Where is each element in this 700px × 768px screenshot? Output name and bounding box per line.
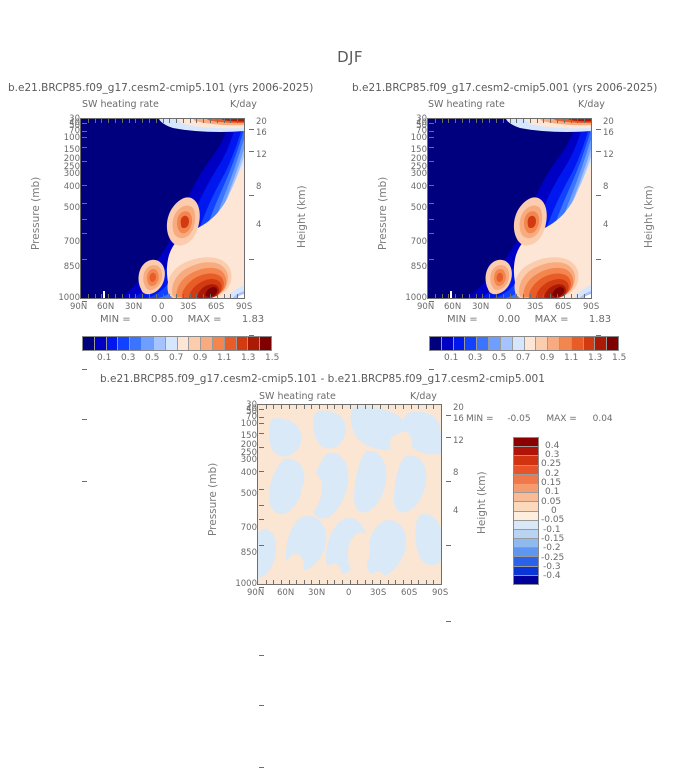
axis-tick-mark — [259, 519, 264, 520]
axis-tick — [482, 119, 483, 123]
panel-title-right: b.e21.BRCP85.f09_g17.cesm2-cmip5.001 (yr… — [352, 82, 657, 94]
axis-tick — [584, 294, 585, 298]
colorbar-swatch — [560, 337, 572, 350]
axis-tick — [273, 405, 274, 409]
axis-tick — [442, 294, 443, 298]
axis-tick — [537, 294, 538, 298]
axis-tick — [169, 294, 170, 298]
axis-tick — [550, 119, 551, 123]
axis-tick — [135, 119, 136, 123]
cbd-tick-0.1: 0.1 — [545, 487, 559, 497]
colorbar-swatch — [489, 337, 501, 350]
pressure-tick-850: 850 — [64, 262, 80, 272]
height-tick-4: 4 — [453, 506, 458, 516]
axis-tick-mark — [82, 233, 87, 234]
axis-tick — [176, 294, 177, 298]
axis-tick — [503, 119, 504, 123]
colorbar-swatch — [225, 337, 237, 350]
colorbar-swatch — [514, 539, 538, 548]
axis-tick — [101, 294, 102, 298]
axis-tick — [411, 580, 412, 584]
pressure-tick-100: 100 — [411, 133, 427, 143]
panel-units-label-left: K/day — [230, 99, 257, 110]
colorbar-swatch — [442, 337, 454, 350]
max-label-right: MAX = — [535, 314, 569, 325]
lat-tick-0: 0 — [159, 302, 164, 312]
cb-tick-1.5: 1.5 — [612, 353, 626, 363]
cb-tick-0.7: 0.7 — [516, 353, 530, 363]
pressure-axis-diff: 30 40 50 70 100 150 200 250 300 400 500 … — [217, 396, 259, 596]
axis-tick — [426, 405, 427, 409]
cb-tick-1.3: 1.3 — [588, 353, 602, 363]
axis-tick-mark — [82, 419, 87, 420]
axis-tick — [584, 119, 585, 123]
height-tick-8: 8 — [256, 182, 261, 192]
axis-tick-mark — [596, 151, 601, 152]
panel-var-label-left: SW heating rate — [82, 99, 159, 110]
lat-tick-30S: 30S — [370, 588, 386, 598]
axis-tick — [319, 580, 320, 584]
axis-tick — [190, 294, 191, 298]
axis-tick — [196, 294, 197, 298]
minmax-right: MIN = 0.00 MAX = 1.83 — [447, 314, 611, 325]
axis-tick — [169, 119, 170, 123]
axis-tick — [496, 294, 497, 298]
axis-tick — [388, 405, 389, 409]
lat-tick-60N: 60N — [277, 588, 294, 598]
axis-tick — [311, 405, 312, 409]
colorbar-swatch — [454, 337, 466, 350]
axis-tick — [350, 580, 351, 584]
axis-tick-mark — [82, 161, 87, 162]
max-label-left: MAX = — [188, 314, 222, 325]
axis-tick — [543, 294, 544, 298]
axis-tick — [537, 119, 538, 123]
axis-tick-mark — [429, 259, 434, 260]
colorbar-swatch — [607, 337, 618, 350]
axis-tick — [108, 119, 109, 123]
axis-tick — [433, 580, 434, 584]
pressure-axis-right: 30 40 50 70 100 150 200 250 300 400 500 … — [387, 110, 429, 310]
axis-tick — [550, 294, 551, 298]
axis-tick — [530, 294, 531, 298]
axis-tick-mark — [429, 123, 434, 124]
figure-title: DJF — [0, 48, 700, 66]
axis-tick — [319, 405, 320, 409]
axis-tick — [203, 119, 204, 123]
colorbar-swatch — [430, 337, 442, 350]
panel-title-diff: b.e21.BRCP85.f09_g17.cesm2-cmip5.101 - b… — [100, 373, 545, 385]
pressure-tick-400: 400 — [241, 468, 257, 478]
height-axis-right: 20 16 12 8 4 — [595, 110, 635, 310]
axis-tick — [203, 294, 204, 298]
axis-tick — [334, 580, 335, 584]
colorbar-swatch — [514, 466, 538, 475]
height-tick-12: 12 — [453, 436, 464, 446]
axis-tick — [571, 294, 572, 298]
pressure-tick-300: 300 — [64, 169, 80, 179]
panel-title-left: b.e21.BRCP85.f09_g17.cesm2-cmip5.101 (yr… — [8, 82, 313, 94]
min-value-right: 0.00 — [498, 314, 520, 325]
axis-tick — [372, 580, 373, 584]
axis-tick — [224, 119, 225, 123]
pressure-tick-850: 850 — [411, 262, 427, 272]
axis-tick-mark — [82, 481, 87, 482]
cb-tick-1.3: 1.3 — [241, 353, 255, 363]
panel-var-label-diff: SW heating rate — [259, 391, 336, 402]
axis-tick — [311, 580, 312, 584]
axis-tick-mark — [259, 447, 264, 448]
axis-tick — [108, 294, 109, 298]
max-value-diff: 0.04 — [593, 414, 613, 424]
pressure-tick-100: 100 — [241, 419, 257, 429]
max-label-diff: MAX = — [546, 414, 577, 424]
lat-tick-30N: 30N — [125, 302, 142, 312]
axis-tick — [266, 405, 267, 409]
min-label-right: MIN = — [447, 314, 478, 325]
pressure-tick-500: 500 — [411, 203, 427, 213]
axis-tick-mark — [82, 369, 87, 370]
axis-tick — [289, 580, 290, 584]
axis-tick — [516, 119, 517, 123]
axis-tick — [296, 580, 297, 584]
axis-tick — [489, 119, 490, 123]
colorbar-swatch — [514, 557, 538, 566]
axis-tick — [281, 405, 282, 409]
axis-tick — [149, 294, 150, 298]
height-tick-16: 16 — [256, 128, 267, 138]
pressure-axis-title-diff: Pressure (mb) — [207, 463, 219, 536]
colorbar-swatch — [514, 447, 538, 456]
axis-tick-mark — [259, 545, 264, 546]
colorbar-swatch — [514, 493, 538, 502]
axis-tick — [156, 119, 157, 123]
axis-tick — [476, 294, 477, 298]
axis-tick — [530, 119, 531, 123]
axis-tick-mark — [82, 123, 87, 124]
axis-tick — [342, 405, 343, 409]
cb-tick-1.5: 1.5 — [265, 353, 279, 363]
cb-tick-1.1: 1.1 — [217, 353, 231, 363]
lat-axis-diff: 90N 60N 30N 0 30S 60S 90S — [257, 588, 442, 602]
cbd-tick-0.25: 0.25 — [541, 459, 561, 469]
minmax-left: MIN = 0.00 MAX = 1.83 — [100, 314, 264, 325]
colorbar-right-labels: 0.1 0.3 0.5 0.7 0.9 1.1 1.3 1.5 — [429, 353, 619, 367]
colorbar-swatch — [548, 337, 560, 350]
height-axis-title-right: Height (km) — [643, 185, 655, 248]
colorbar-swatch — [501, 337, 513, 350]
axis-tick — [230, 294, 231, 298]
cb-tick-0.9: 0.9 — [193, 353, 207, 363]
colorbar-swatch — [536, 337, 548, 350]
axis-tick — [156, 294, 157, 298]
colorbar-left-labels: 0.1 0.3 0.5 0.7 0.9 1.1 1.3 1.5 — [82, 353, 272, 367]
axis-tick — [380, 580, 381, 584]
colorbar-diff[interactable] — [513, 437, 539, 585]
axis-tick-mark — [82, 259, 87, 260]
axis-tick — [435, 119, 436, 123]
lat-tick-30S: 30S — [527, 302, 543, 312]
colorbar-swatch — [595, 337, 607, 350]
axis-tick-mark — [249, 195, 254, 196]
colorbar-swatch — [584, 337, 596, 350]
axis-tick — [577, 294, 578, 298]
colorbar-swatch — [514, 530, 538, 539]
axis-tick — [350, 405, 351, 409]
cb-tick-0.5: 0.5 — [145, 353, 159, 363]
axis-tick-mark — [259, 655, 264, 656]
axis-tick — [564, 119, 565, 123]
axis-tick-mark — [429, 219, 434, 220]
lat-tick-60N: 60N — [444, 302, 461, 312]
axis-tick — [183, 294, 184, 298]
colorbar-diff-labels: 0.4 0.3 0.25 0.2 0.15 0.1 0.05 0 -0.05 -… — [541, 437, 591, 587]
axis-tick — [418, 580, 419, 584]
colorbar-swatch — [166, 337, 178, 350]
axis-tick-mark — [429, 185, 434, 186]
axis-tick — [122, 119, 123, 123]
axis-tick — [523, 294, 524, 298]
min-value-diff: -0.05 — [507, 414, 530, 424]
lat-tick-90N: 90N — [417, 302, 434, 312]
axis-tick — [95, 294, 96, 298]
axis-tick — [469, 294, 470, 298]
height-tick-12: 12 — [603, 150, 614, 160]
max-value-left: 1.83 — [242, 314, 264, 325]
cbd-tick--0.05: -0.05 — [541, 515, 564, 525]
axis-tick-mark — [446, 621, 451, 622]
axis-tick — [516, 294, 517, 298]
axis-tick — [237, 119, 238, 123]
axis-tick — [115, 119, 116, 123]
axis-tick — [281, 580, 282, 584]
colorbar-swatch — [465, 337, 477, 350]
axis-tick — [88, 119, 89, 123]
height-axis-title-left: Height (km) — [296, 185, 308, 248]
axis-tick — [115, 294, 116, 298]
pressure-axis-left: 30 40 50 70 100 150 200 250 300 400 500 … — [40, 110, 82, 310]
axis-tick — [142, 119, 143, 123]
lat-tick-90S: 90S — [236, 302, 252, 312]
height-axis-left: 20 16 12 8 4 — [248, 110, 288, 310]
pressure-tick-850: 850 — [241, 548, 257, 558]
height-tick-20: 20 — [603, 117, 614, 127]
colorbar-swatch — [107, 337, 119, 350]
axis-tick — [296, 405, 297, 409]
axis-tick — [135, 294, 136, 298]
axis-tick — [503, 294, 504, 298]
lat-tick-30N: 30N — [472, 302, 489, 312]
axis-tick — [476, 119, 477, 123]
pressure-axis-title-right: Pressure (mb) — [377, 177, 389, 250]
axis-tick — [183, 119, 184, 123]
axis-tick — [380, 405, 381, 409]
colorbar-swatch — [201, 337, 213, 350]
axis-tick-mark — [259, 505, 264, 506]
colorbar-swatch — [95, 337, 107, 350]
axis-tick — [455, 119, 456, 123]
lat-tick-30S: 30S — [180, 302, 196, 312]
pressure-tick-700: 700 — [411, 237, 427, 247]
pressure-tick-500: 500 — [241, 489, 257, 499]
axis-tick-mark — [259, 705, 264, 706]
axis-tick — [230, 119, 231, 123]
axis-tick — [304, 580, 305, 584]
minmax-diff: MIN = -0.05 MAX = 0.04 — [466, 414, 613, 424]
colorbar-swatch — [213, 337, 225, 350]
contour-field-right — [428, 119, 591, 298]
pressure-tick-400: 400 — [64, 182, 80, 192]
axis-tick — [327, 405, 328, 409]
axis-tick — [462, 294, 463, 298]
colorbar-swatch — [154, 337, 166, 350]
pressure-tick-100: 100 — [64, 133, 80, 143]
axis-tick — [95, 119, 96, 123]
lat-tick-90N: 90N — [247, 588, 264, 598]
colorbar-swatch — [142, 337, 154, 350]
lat-tick-60N: 60N — [97, 302, 114, 312]
min-label-diff: MIN = — [466, 414, 494, 424]
colorbar-swatch — [514, 512, 538, 521]
lat-tick-0: 0 — [346, 588, 351, 598]
axis-tick-mark — [596, 259, 601, 260]
axis-tick — [289, 405, 290, 409]
cb-tick-0.7: 0.7 — [169, 353, 183, 363]
axis-tick — [448, 119, 449, 123]
lat-tick-0: 0 — [506, 302, 511, 312]
axis-tick-mark — [82, 203, 87, 204]
axis-tick — [304, 405, 305, 409]
axis-tick — [418, 405, 419, 409]
axis-tick — [190, 119, 191, 123]
colorbar-right[interactable] — [429, 336, 619, 351]
cb-tick-0.3: 0.3 — [468, 353, 482, 363]
colorbar-swatch — [130, 337, 142, 350]
colorbar-swatch — [178, 337, 190, 350]
height-tick-4: 4 — [603, 220, 608, 230]
axis-tick — [523, 119, 524, 123]
panel-units-label-diff: K/day — [410, 391, 437, 402]
axis-tick — [273, 580, 274, 584]
axis-tick — [365, 405, 366, 409]
axis-tick — [557, 119, 558, 123]
colorbar-left[interactable] — [82, 336, 272, 351]
pressure-tick-500: 500 — [64, 203, 80, 213]
axis-tick — [469, 119, 470, 123]
axis-tick — [163, 119, 164, 123]
axis-tick-mark — [596, 129, 601, 130]
axis-tick — [217, 294, 218, 298]
axis-tick — [557, 294, 558, 298]
axis-tick — [372, 405, 373, 409]
axis-tick — [224, 294, 225, 298]
axis-tick-mark — [259, 417, 264, 418]
axis-tick-mark — [249, 129, 254, 130]
height-axis-title-diff: Height (km) — [476, 471, 488, 534]
axis-tick — [149, 119, 150, 123]
axis-tick-mark — [429, 369, 434, 370]
axis-tick — [122, 294, 123, 298]
axis-tick — [365, 580, 366, 584]
axis-tick — [388, 580, 389, 584]
min-value-left: 0.00 — [151, 314, 173, 325]
axis-tick — [435, 294, 436, 298]
height-tick-12: 12 — [256, 150, 267, 160]
height-tick-8: 8 — [453, 468, 458, 478]
colorbar-swatch — [514, 576, 538, 584]
contour-plot-left[interactable] — [80, 118, 245, 299]
axis-tick — [196, 119, 197, 123]
height-tick-20: 20 — [453, 403, 464, 413]
axis-tick-mark — [429, 131, 434, 132]
height-tick-4: 4 — [256, 220, 261, 230]
colorbar-swatch — [83, 337, 95, 350]
axis-tick — [327, 580, 328, 584]
colorbar-swatch — [260, 337, 271, 350]
axis-tick — [176, 119, 177, 123]
colorbar-swatch — [514, 567, 538, 576]
axis-tick-mark — [82, 219, 87, 220]
contour-plot-right[interactable] — [427, 118, 592, 299]
panel-units-label-right: K/day — [578, 99, 605, 110]
height-tick-16: 16 — [453, 414, 464, 424]
axis-tick — [411, 405, 412, 409]
axis-tick-mark — [259, 433, 264, 434]
pressure-axis-title-left: Pressure (mb) — [30, 177, 42, 250]
axis-tick-mark — [82, 185, 87, 186]
cbd-tick--0.4: -0.4 — [543, 571, 561, 581]
pressure-tick-300: 300 — [241, 455, 257, 465]
colorbar-swatch — [118, 337, 130, 350]
axis-tick-mark — [82, 147, 87, 148]
axis-tick — [496, 119, 497, 123]
axis-tick — [142, 294, 143, 298]
axis-tick-mark — [82, 137, 87, 138]
axis-tick — [129, 294, 130, 298]
axis-tick — [217, 119, 218, 123]
colorbar-swatch — [514, 438, 538, 447]
colorbar-swatch — [514, 521, 538, 530]
axis-tick — [88, 294, 89, 298]
colorbar-swatch — [248, 337, 260, 350]
axis-tick — [426, 580, 427, 584]
lat-tick-90N: 90N — [70, 302, 87, 312]
axis-tick — [210, 294, 211, 298]
colorbar-swatch — [525, 337, 537, 350]
colorbar-swatch — [477, 337, 489, 350]
axis-tick — [489, 294, 490, 298]
axis-tick — [442, 119, 443, 123]
max-value-right: 1.83 — [589, 314, 611, 325]
axis-tick-mark — [249, 259, 254, 260]
axis-tick-mark — [446, 545, 451, 546]
height-tick-8: 8 — [603, 182, 608, 192]
axis-tick-mark — [446, 415, 451, 416]
contour-plot-diff[interactable] — [257, 404, 442, 585]
axis-tick — [342, 580, 343, 584]
height-tick-16: 16 — [603, 128, 614, 138]
axis-tick-mark — [596, 195, 601, 196]
axis-tick — [510, 294, 511, 298]
colorbar-swatch — [572, 337, 584, 350]
axis-tick — [448, 294, 449, 298]
axis-tick-mark — [259, 471, 264, 472]
pressure-tick-700: 700 — [64, 237, 80, 247]
axis-tick-mark — [259, 423, 264, 424]
axis-tick — [577, 119, 578, 123]
axis-tick — [571, 119, 572, 123]
axis-tick — [129, 119, 130, 123]
